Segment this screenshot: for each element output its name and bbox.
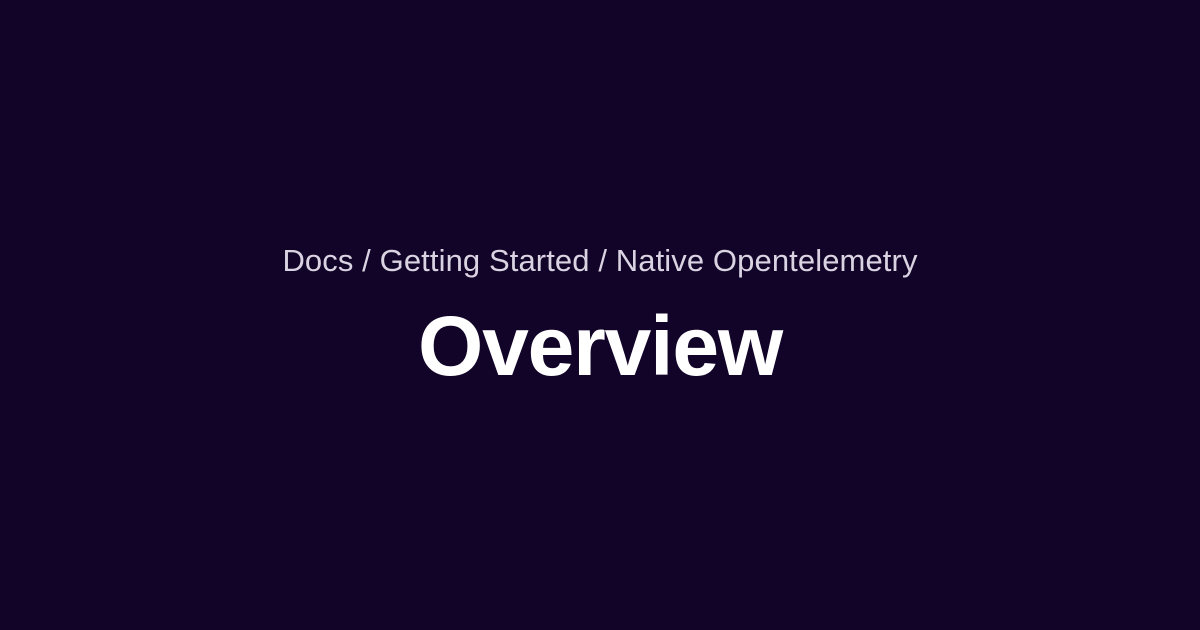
breadcrumb: Docs / Getting Started / Native Opentele… [282, 242, 917, 281]
page-title: Overview [418, 304, 782, 388]
card-content-block: Docs / Getting Started / Native Opentele… [80, 242, 1120, 389]
og-preview-card: Docs / Getting Started / Native Opentele… [0, 0, 1200, 630]
